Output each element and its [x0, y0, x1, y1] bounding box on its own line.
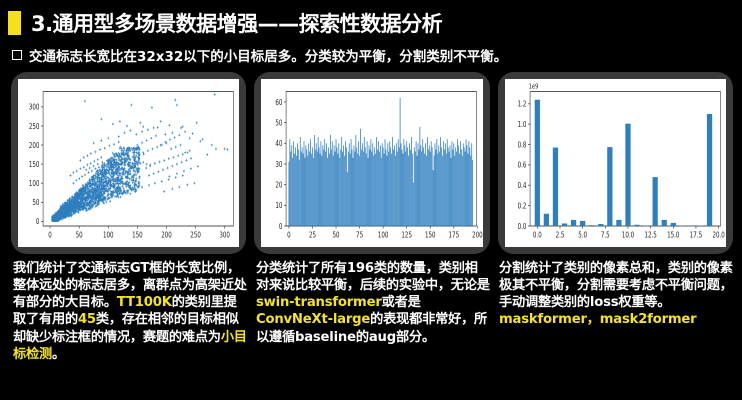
- svg-text:50: 50: [276, 119, 283, 128]
- svg-text:0: 0: [48, 231, 52, 240]
- chart-panel-class-count: 02550751001251501752000102030405060: [254, 72, 489, 254]
- svg-text:40: 40: [276, 139, 283, 148]
- svg-text:0: 0: [36, 217, 40, 226]
- highlighted-text: swin-transformer: [256, 295, 382, 310]
- svg-text:10: 10: [276, 201, 283, 210]
- svg-text:15.0: 15.0: [667, 231, 679, 240]
- text-column-segmentation: 分割统计了类别的像素总和，类别的像素极其不平衡，分割需要考虑不平衡问题，手动调整…: [499, 260, 733, 396]
- svg-text:0.4: 0.4: [517, 181, 526, 190]
- svg-text:20: 20: [276, 181, 283, 190]
- body-text: 或者是: [382, 295, 421, 310]
- svg-text:175: 175: [449, 231, 460, 240]
- body-text: 分割统计了类别的像素总和，类别的像素极其不平衡，分割需要考虑不平衡问题，手动调整…: [499, 261, 733, 310]
- svg-text:200: 200: [472, 231, 482, 240]
- svg-text:100: 100: [29, 179, 40, 188]
- svg-text:150: 150: [29, 160, 40, 169]
- highlighted-text: 45: [78, 312, 96, 327]
- text-column-detection: 我们统计了交通标志GT框的长宽比例，整体远处的标志居多，离群点为高架近处有部分的…: [13, 260, 247, 396]
- page-title: 3.通用型多场景数据增强——探索性数据分析: [31, 8, 442, 38]
- svg-text:125: 125: [402, 231, 413, 240]
- svg-text:0.8: 0.8: [517, 140, 526, 149]
- svg-text:0: 0: [287, 231, 291, 240]
- slide-title-row: 3.通用型多场景数据增强——探索性数据分析: [8, 8, 734, 38]
- chart-panel-pixel-sum: 0.02.55.07.510.012.515.017.520.00.00.20.…: [498, 72, 733, 254]
- chart-panel-scatter: 050100150200250300050100150200250300: [11, 72, 246, 254]
- svg-text:250: 250: [29, 122, 40, 131]
- svg-text:20.0: 20.0: [712, 231, 724, 240]
- highlighted-text: ConvNeXt-large: [256, 312, 370, 327]
- svg-text:0.0: 0.0: [533, 231, 542, 240]
- svg-text:12.5: 12.5: [644, 231, 656, 240]
- highlighted-text: TT100K: [117, 295, 172, 310]
- svg-text:1.0: 1.0: [517, 120, 526, 129]
- svg-text:75: 75: [356, 231, 363, 240]
- svg-text:0.6: 0.6: [517, 161, 526, 170]
- bullet-square-icon: [12, 50, 22, 60]
- svg-text:100: 100: [103, 231, 114, 240]
- svg-text:10.0: 10.0: [621, 231, 633, 240]
- chart-canvas-class-count: 02550751001251501752000102030405060: [261, 79, 482, 247]
- body-text: 分类统计了所有196类的数量，类别相对来说比较平衡，后续的实验中，无论是: [256, 261, 490, 293]
- svg-text:50: 50: [333, 231, 340, 240]
- svg-text:7.5: 7.5: [601, 231, 610, 240]
- svg-text:0: 0: [279, 222, 283, 231]
- svg-text:300: 300: [29, 103, 40, 112]
- title-marker-icon: [8, 11, 21, 35]
- chart-canvas-pixel-sum: 0.02.55.07.510.012.515.017.520.00.00.20.…: [505, 79, 726, 247]
- svg-text:300: 300: [219, 231, 230, 240]
- bullet-text: 交通标志长宽比在32x32以下的小目标居多。分类较为平衡，分割类别不平衡。: [29, 45, 507, 65]
- svg-text:2.5: 2.5: [555, 231, 564, 240]
- svg-text:5.0: 5.0: [578, 231, 587, 240]
- svg-text:100: 100: [378, 231, 389, 240]
- svg-text:150: 150: [132, 231, 143, 240]
- svg-text:1.2: 1.2: [517, 100, 526, 109]
- charts-row: 050100150200250300050100150200250300 025…: [11, 72, 733, 254]
- svg-text:50: 50: [32, 198, 39, 207]
- svg-text:250: 250: [190, 231, 201, 240]
- svg-text:0.0: 0.0: [517, 222, 526, 231]
- svg-text:1e9: 1e9: [528, 83, 538, 91]
- svg-text:30: 30: [276, 160, 283, 169]
- svg-text:17.5: 17.5: [689, 231, 701, 240]
- svg-text:25: 25: [309, 231, 316, 240]
- text-columns-row: 我们统计了交通标志GT框的长宽比例，整体远处的标志居多，离群点为高架近处有部分的…: [13, 260, 733, 396]
- svg-text:150: 150: [425, 231, 436, 240]
- text-column-classification: 分类统计了所有196类的数量，类别相对来说比较平衡，后续的实验中，无论是swin…: [256, 260, 490, 396]
- svg-text:200: 200: [161, 231, 172, 240]
- chart-canvas-scatter: 050100150200250300050100150200250300: [18, 79, 239, 247]
- body-text: 。: [52, 347, 65, 362]
- svg-text:0.2: 0.2: [517, 202, 526, 211]
- bullet-row: 交通标志长宽比在32x32以下的小目标居多。分类较为平衡，分割类别不平衡。: [12, 44, 734, 66]
- highlighted-text: maskformer，mask2former: [499, 312, 696, 327]
- slide-root: 3.通用型多场景数据增强——探索性数据分析 交通标志长宽比在32x32以下的小目…: [0, 0, 742, 400]
- svg-text:60: 60: [276, 98, 283, 107]
- svg-text:50: 50: [76, 231, 83, 240]
- svg-text:200: 200: [29, 141, 40, 150]
